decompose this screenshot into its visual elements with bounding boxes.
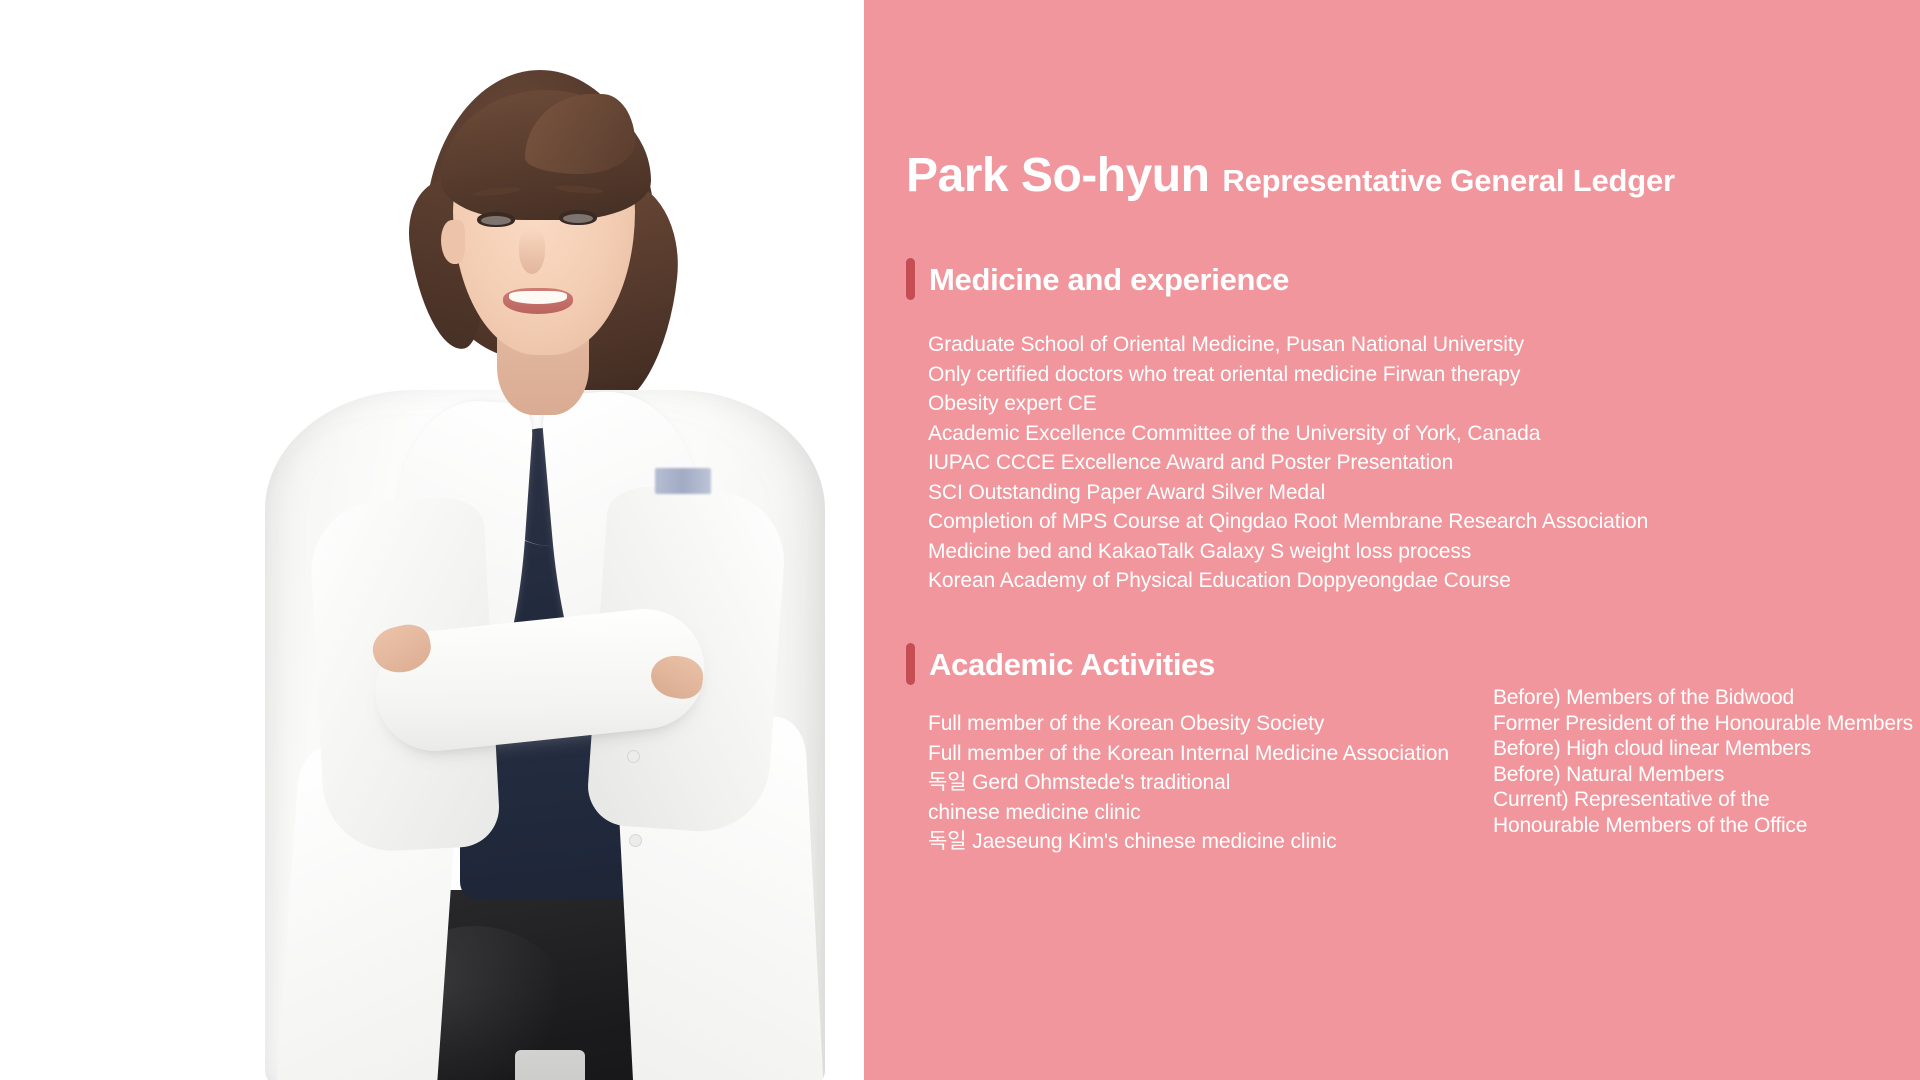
list-item: Graduate School of Oriental Medicine, Pu…	[928, 330, 1648, 360]
activities-columns: Full member of the Korean Obesity Societ…	[928, 709, 1920, 857]
teeth-shape	[509, 291, 567, 304]
list-item: 독일 Gerd Ohmstede's traditional	[928, 768, 1493, 798]
doctor-name: Park So-hyun	[906, 152, 1209, 200]
ear-shape	[441, 220, 465, 264]
list-item: Medicine bed and KakaoTalk Galaxy S weig…	[928, 537, 1648, 567]
list-item: Completion of MPS Course at Qingdao Root…	[928, 507, 1648, 537]
list-item: Academic Excellence Committee of the Uni…	[928, 419, 1648, 449]
stool-shape	[515, 1050, 585, 1080]
section-title: Academic Activities	[929, 649, 1215, 680]
list-item: Before) High cloud linear Members	[1493, 736, 1920, 762]
list-item: SCI Outstanding Paper Award Silver Medal	[928, 478, 1648, 508]
nose-shape	[519, 228, 545, 274]
doctor-role: Representative General Ledger	[1222, 165, 1675, 196]
eye-highlight-right-shape	[563, 214, 593, 223]
list-item: chinese medicine clinic	[928, 798, 1493, 828]
activities-column-left: Full member of the Korean Obesity Societ…	[928, 709, 1493, 857]
list-item: Korean Academy of Physical Education Dop…	[928, 566, 1648, 596]
list-item: Full member of the Korean Obesity Societ…	[928, 709, 1493, 739]
credentials-list: Graduate School of Oriental Medicine, Pu…	[928, 330, 1648, 596]
list-item: Before) Members of the Bidwood	[1493, 685, 1920, 711]
list-item: IUPAC CCCE Excellence Award and Poster P…	[928, 448, 1648, 478]
profile-page: Park So-hyun Representative General Ledg…	[0, 0, 1920, 1080]
accent-bar-icon	[906, 643, 915, 685]
list-item: Former President of the Honourable Membe…	[1493, 711, 1920, 737]
coat-pocket-embroidery	[655, 468, 711, 494]
coat-button-icon	[629, 834, 642, 847]
section-academic-activities: Academic Activities Full member of the K…	[906, 643, 1920, 857]
section-title: Medicine and experience	[929, 264, 1289, 295]
list-item: Full member of the Korean Internal Medic…	[928, 739, 1493, 769]
eye-highlight-left-shape	[481, 216, 511, 225]
list-item: Honourable Members of the Office	[1493, 813, 1920, 839]
accent-bar-icon	[906, 258, 915, 300]
doctor-portrait-image	[225, 60, 845, 1080]
profile-name-row: Park So-hyun Representative General Ledg…	[906, 152, 1675, 200]
section-medicine-and-experience: Medicine and experience Graduate School …	[906, 258, 1648, 596]
doctor-photo-pane	[0, 0, 864, 1080]
coat-button-icon	[627, 750, 640, 763]
list-item: Before) Natural Members	[1493, 762, 1920, 788]
list-item: Only certified doctors who treat orienta…	[928, 360, 1648, 390]
list-item: Obesity expert CE	[928, 389, 1648, 419]
profile-info-panel: Park So-hyun Representative General Ledg…	[864, 0, 1920, 1080]
activities-column-right: Before) Members of the Bidwood Former Pr…	[1493, 685, 1920, 857]
list-item: Current) Representative of the	[1493, 787, 1920, 813]
list-item: 독일 Jaeseung Kim's chinese medicine clini…	[928, 827, 1493, 857]
section-header: Academic Activities	[906, 643, 1920, 685]
section-header: Medicine and experience	[906, 258, 1648, 300]
